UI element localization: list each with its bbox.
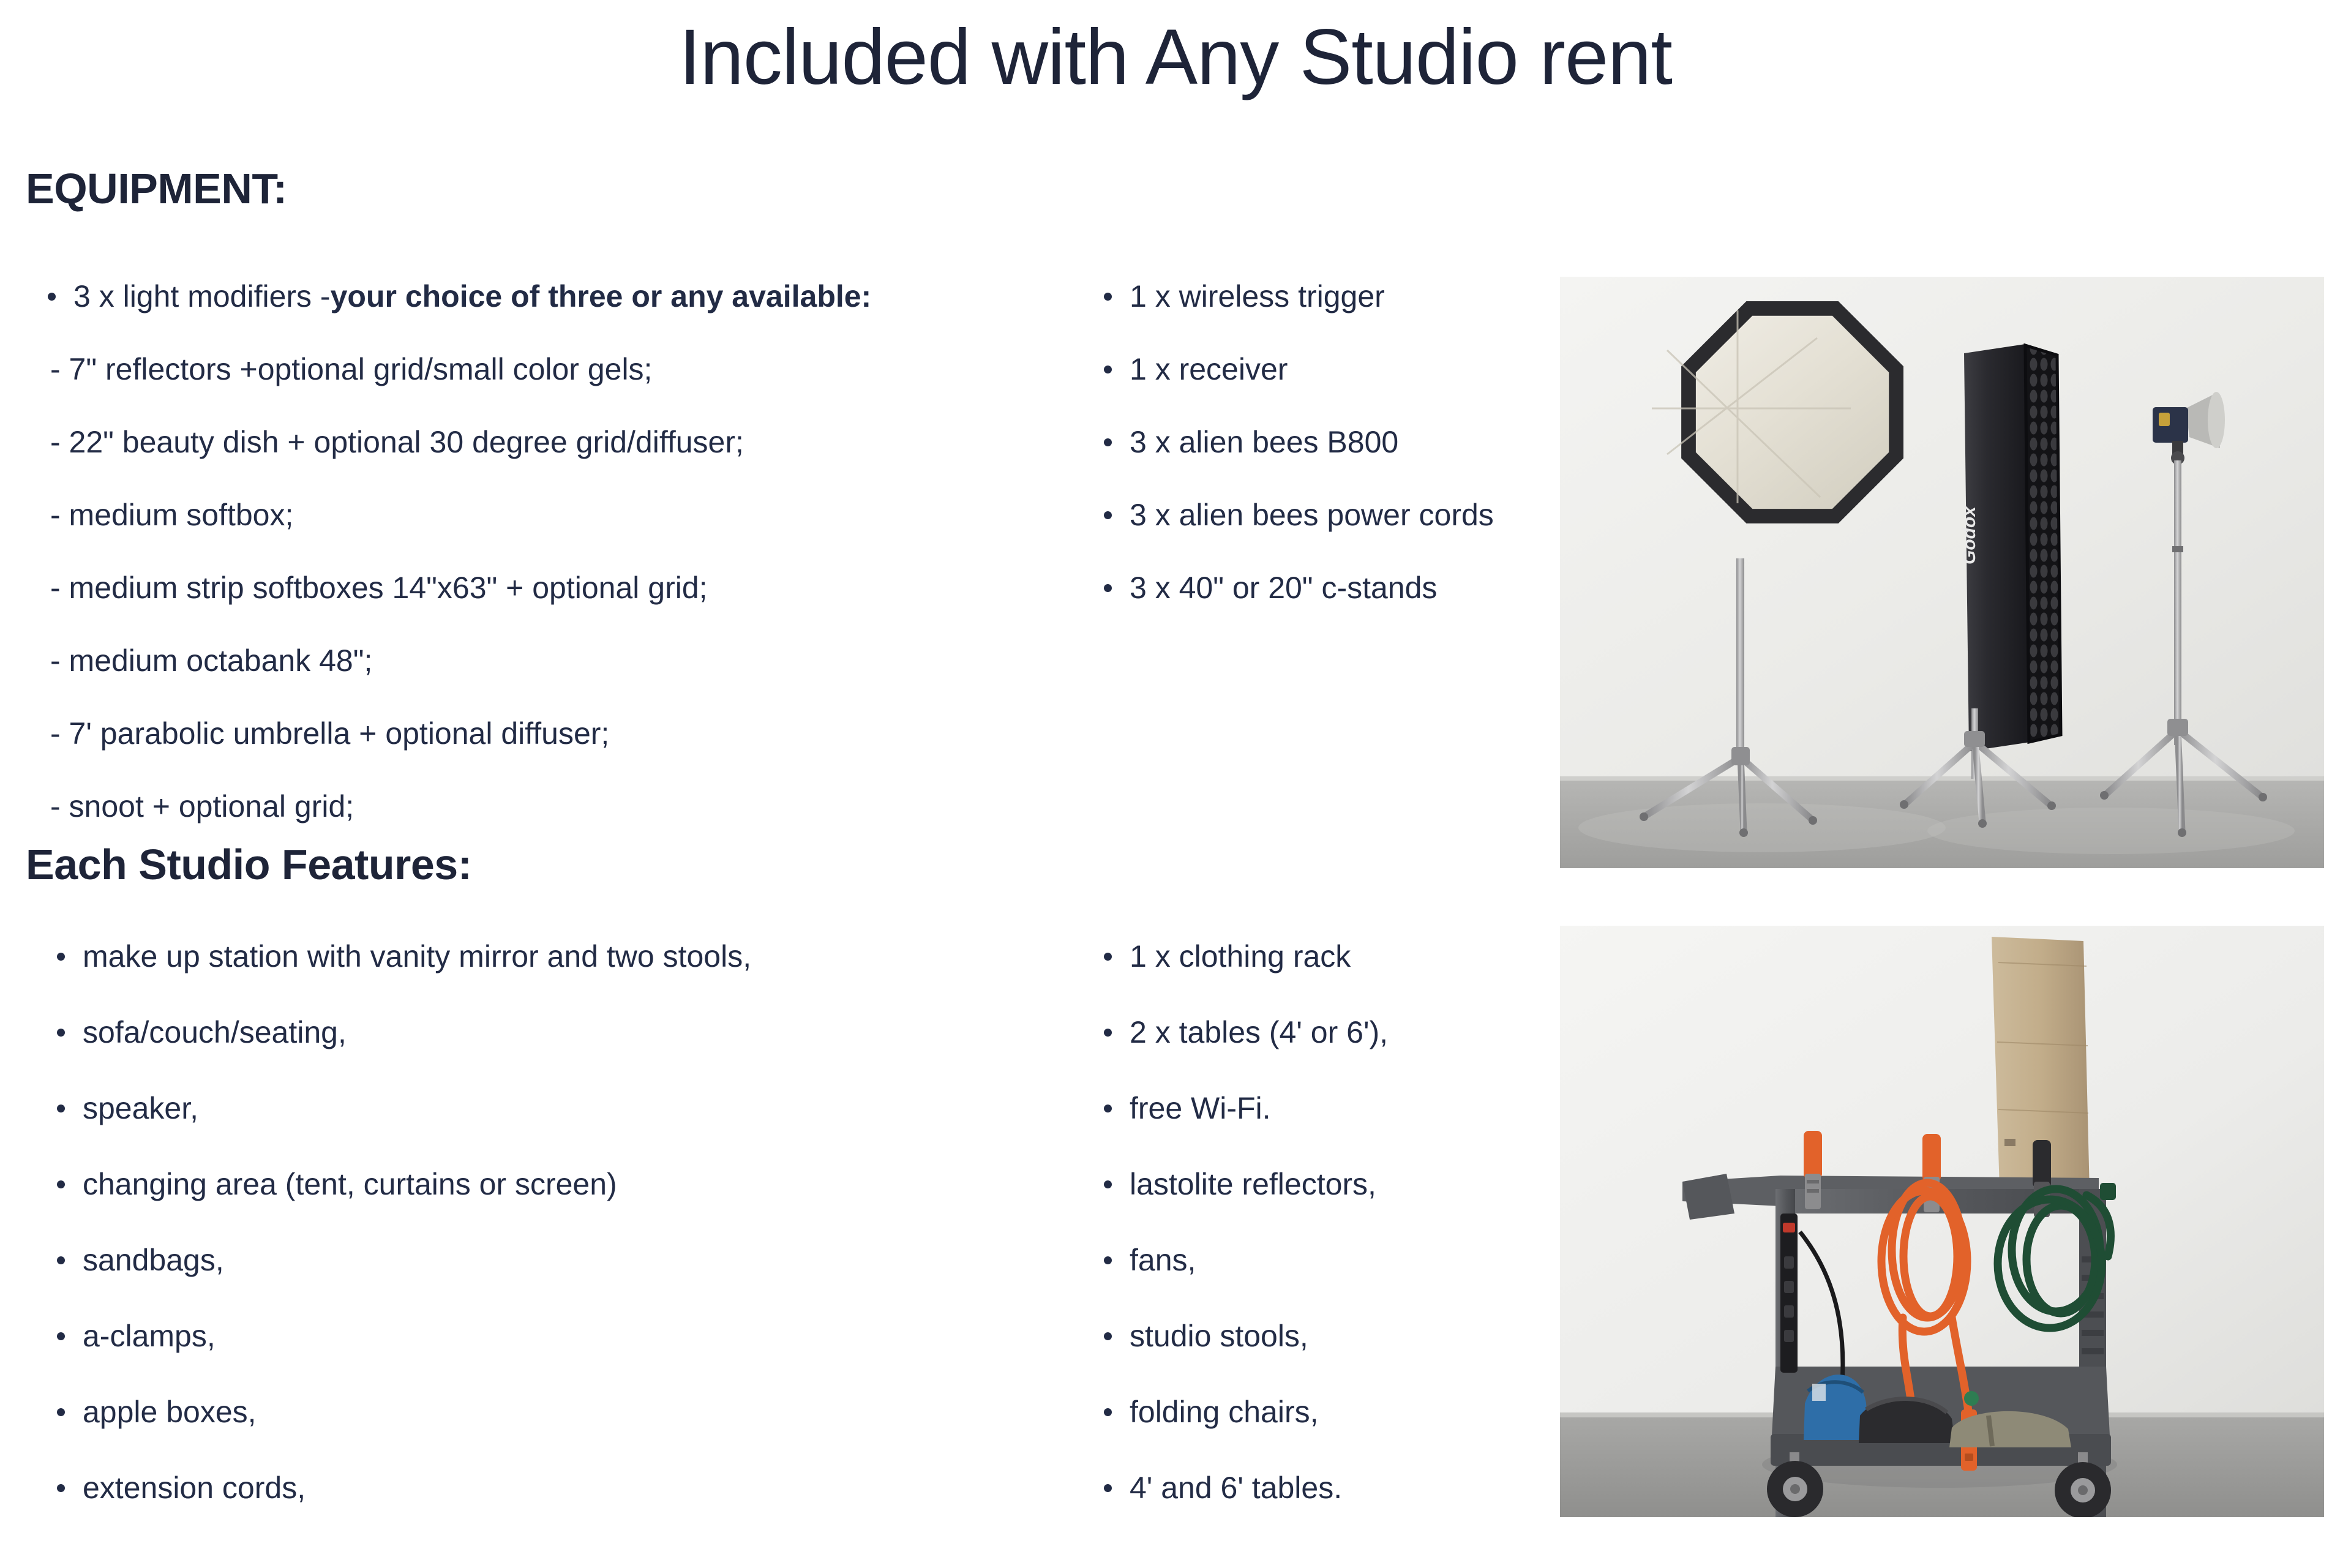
list-item: lastolite reflectors,: [1093, 1165, 1570, 1204]
list-item: 2 x tables (4' or 6'),: [1093, 1013, 1570, 1052]
list-item: folding chairs,: [1093, 1392, 1570, 1431]
list-item: apple boxes,: [46, 1392, 1038, 1431]
list-item: 1 x clothing rack: [1093, 937, 1570, 976]
list-item-label: 3 x light modifiers -: [73, 279, 331, 313]
svg-text:Godox: Godox: [1959, 506, 1979, 565]
list-item: sandbags,: [46, 1240, 1038, 1280]
lighting-gear-photo: Godox: [1560, 277, 2324, 868]
list-item: - medium softbox;: [37, 495, 1029, 535]
list-item: - 7' parabolic umbrella + optional diffu…: [37, 714, 1029, 753]
list-item: 1 x wireless trigger: [1093, 277, 1570, 316]
list-item-emphasis: your choice of three or any available:: [331, 279, 872, 313]
list-item: 3 x 40" or 20" c-stands: [1093, 568, 1570, 607]
list-item: - medium strip softboxes 14"x63" + optio…: [37, 568, 1029, 607]
page-title: Included with Any Studio rent: [0, 12, 2351, 102]
list-item: make up station with vanity mirror and t…: [46, 937, 1038, 976]
equipment-section-heading: EQUIPMENT:: [26, 164, 287, 213]
list-item: free Wi-Fi.: [1093, 1089, 1570, 1128]
list-item: - snoot + optional grid;: [37, 787, 1029, 826]
list-item: 3 x light modifiers -your choice of thre…: [37, 277, 1029, 316]
list-item: a-clamps,: [46, 1316, 1038, 1356]
features-right-column: 1 x clothing rack 2 x tables (4' or 6'),…: [1093, 937, 1570, 1544]
utility-cart-photo: [1560, 926, 2324, 1517]
list-item: speaker,: [46, 1089, 1038, 1128]
list-item: 3 x alien bees B800: [1093, 422, 1570, 462]
list-item: - 7" reflectors +optional grid/small col…: [37, 350, 1029, 389]
equipment-right-column: 1 x wireless trigger 1 x receiver 3 x al…: [1093, 277, 1570, 641]
list-item: 3 x alien bees power cords: [1093, 495, 1570, 535]
list-item: fans,: [1093, 1240, 1570, 1280]
list-item: sofa/couch/seating,: [46, 1013, 1038, 1052]
list-item: studio stools,: [1093, 1316, 1570, 1356]
features-section-heading: Each Studio Features:: [26, 840, 472, 889]
list-item: changing area (tent, curtains or screen): [46, 1165, 1038, 1204]
list-item: 1 x receiver: [1093, 350, 1570, 389]
list-item: extension cords,: [46, 1468, 1038, 1507]
list-item: 4' and 6' tables.: [1093, 1468, 1570, 1507]
equipment-left-column: 3 x light modifiers -your choice of thre…: [37, 277, 1029, 860]
list-item: - 22" beauty dish + optional 30 degree g…: [37, 422, 1029, 462]
features-left-column: make up station with vanity mirror and t…: [46, 937, 1038, 1544]
list-item: - medium octabank 48";: [37, 641, 1029, 680]
